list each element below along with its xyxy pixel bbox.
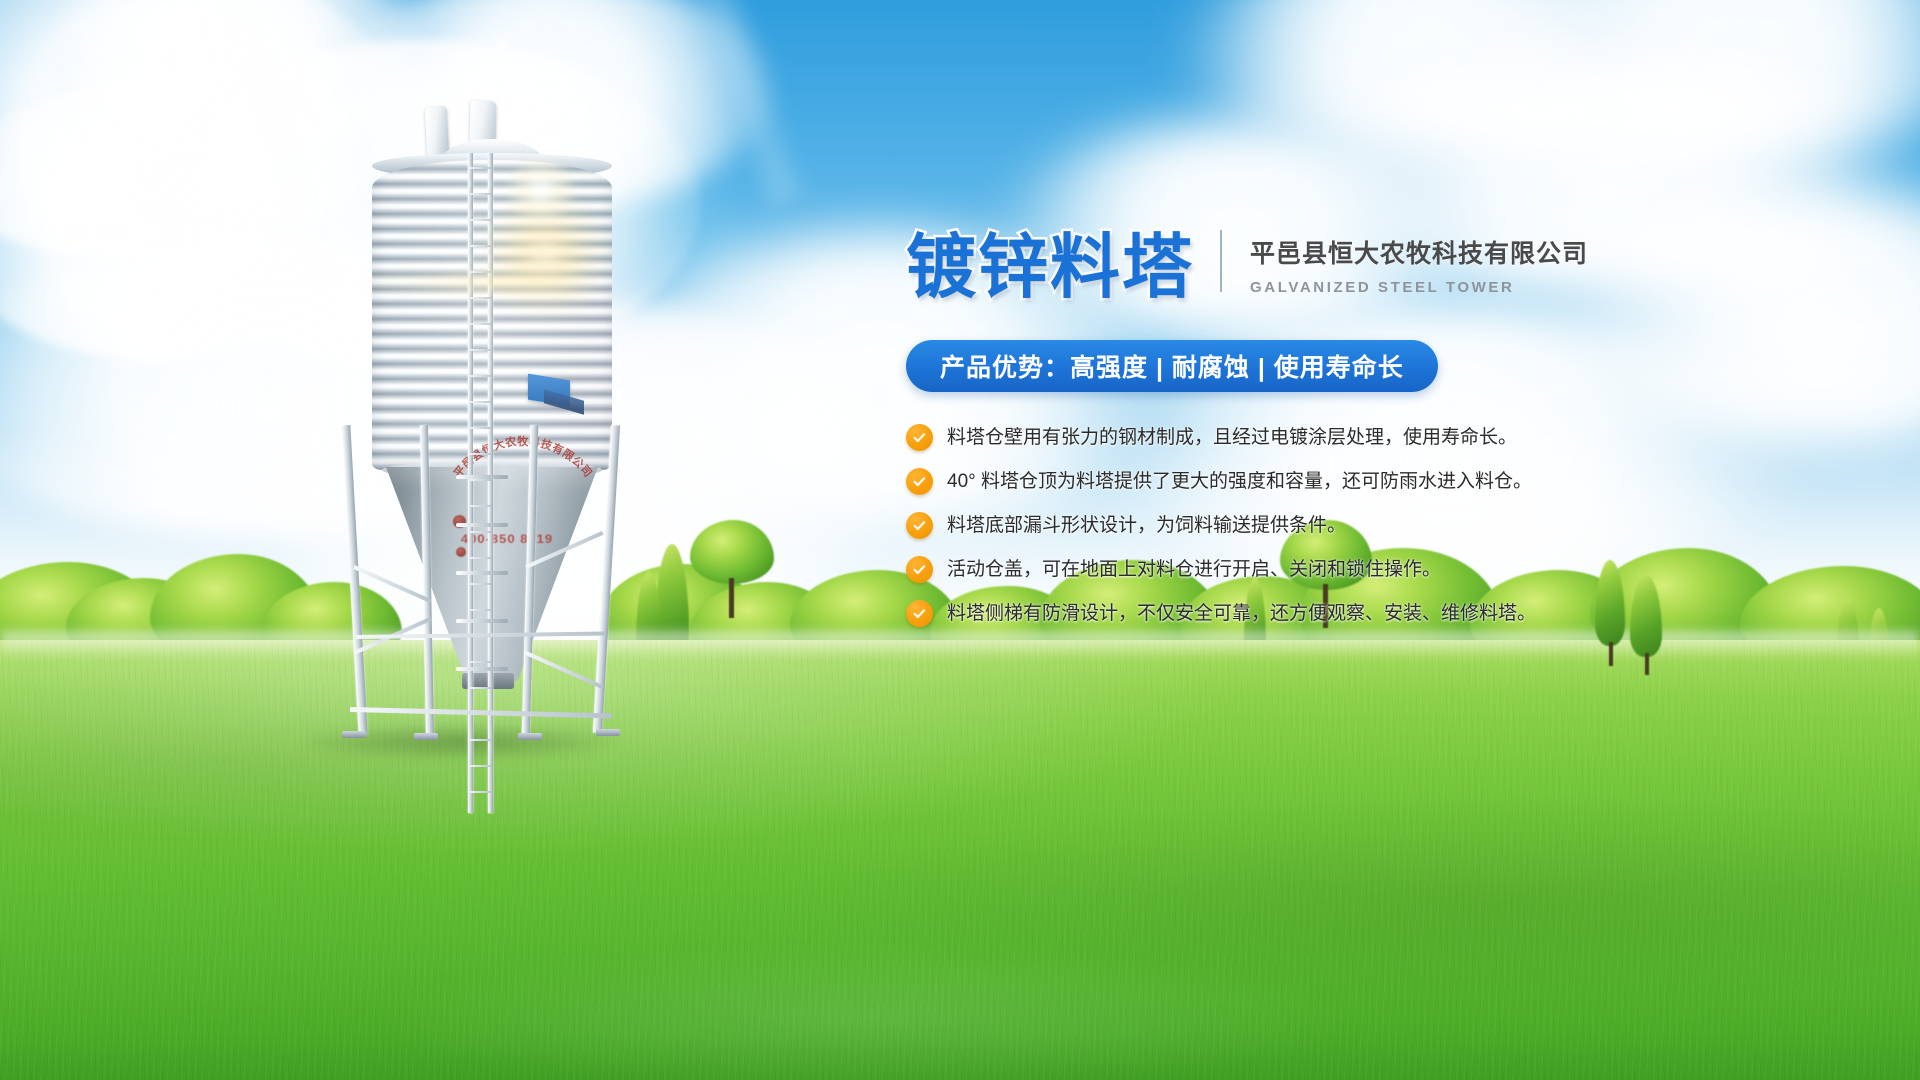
list-item: 活动仓盖，可在地面上对料仓进行开启、关闭和锁住操作。 [906, 556, 1606, 583]
list-item: 料塔仓壁用有张力的钢材制成，且经过电镀涂层处理，使用寿命长。 [906, 424, 1606, 451]
ladder-rung [470, 219, 492, 221]
ladder-rung [470, 167, 492, 169]
silo-foot-plate [518, 733, 542, 740]
conifer-tree [1630, 575, 1662, 657]
silo-roof-hatch [425, 106, 449, 157]
silo-cross-brace [353, 565, 431, 603]
list-item-label: 活动仓盖，可在地面上对料仓进行开启、关闭和锁住操作。 [947, 558, 1441, 582]
check-icon [906, 600, 933, 627]
feature-list: 料塔仓壁用有张力的钢材制成，且经过电镀涂层处理，使用寿命长。 40° 料塔仓顶为… [906, 424, 1606, 627]
product-banner: 平邑县恒大农牧科技有限公司 400-850 8819 [0, 0, 1920, 1080]
silo-cross-brace [525, 651, 603, 689]
silo-foot-plate [596, 729, 620, 736]
list-item-label: 40° 料塔仓顶为料塔提供了更大的强度和容量，还可防雨水进入料仓。 [947, 470, 1532, 494]
banner-content: 镀锌料塔 平邑县恒大农牧科技有限公司 GALVANIZED STEEL TOWE… [906, 230, 1606, 644]
check-icon [906, 556, 933, 583]
list-item: 40° 料塔仓顶为料塔提供了更大的强度和容量，还可防雨水进入料仓。 [906, 468, 1606, 495]
list-item: 料塔底部漏斗形状设计，为饲料输送提供条件。 [906, 512, 1606, 539]
ladder-rung [470, 245, 492, 247]
ladder-rung [470, 323, 492, 325]
company-block: 平邑县恒大农牧科技有限公司 GALVANIZED STEEL TOWER [1250, 234, 1588, 302]
ladder-rung [470, 765, 492, 767]
check-icon [906, 512, 933, 539]
cage-hoop [456, 523, 508, 527]
foreground-tree-group [1630, 575, 1690, 685]
ladder-safety-cage [456, 475, 508, 695]
galvanized-steel-silo: 平邑县恒大农牧科技有限公司 400-850 8819 [330, 95, 650, 755]
advantage-badge-label: 产品优势：高强度 | 耐腐蚀 | 使用寿命长 [940, 348, 1404, 384]
tree-trunk [1645, 653, 1649, 675]
ladder-rung [470, 401, 492, 403]
list-item: 料塔侧梯有防滑设计，不仅安全可靠，还方便观察、安装、维修料塔。 [906, 600, 1606, 627]
tree-canopy [690, 520, 774, 584]
ladder-rung [470, 453, 492, 455]
cage-hoop [456, 571, 508, 575]
ladder-rung [470, 427, 492, 429]
tree-trunk [729, 578, 734, 618]
list-item-label: 料塔侧梯有防滑设计，不仅安全可靠，还方便观察、安装、维修料塔。 [947, 602, 1536, 626]
silo-support-leg [341, 425, 367, 735]
title-divider [1220, 230, 1222, 292]
list-item-label: 料塔仓壁用有张力的钢材制成，且经过电镀涂层处理，使用寿命长。 [947, 426, 1517, 450]
foreground-tree-group [690, 520, 780, 630]
cage-hoop [456, 619, 508, 623]
title-row: 镀锌料塔 平邑县恒大农牧科技有限公司 GALVANIZED STEEL TOWE… [906, 230, 1606, 302]
silo-foot-plate [414, 733, 438, 740]
check-icon [906, 468, 933, 495]
company-name: 平邑县恒大农牧科技有限公司 [1250, 234, 1588, 270]
grass-shading [0, 640, 1920, 1080]
ladder-rung [470, 349, 492, 351]
list-item-label: 料塔底部漏斗形状设计，为饲料输送提供条件。 [947, 514, 1346, 538]
lens-flare-dot [495, 38, 507, 50]
check-icon [906, 424, 933, 451]
page-title: 镀锌料塔 [906, 232, 1194, 302]
silo-foot-plate [342, 731, 366, 738]
tree-trunk [1609, 642, 1613, 666]
ladder-rung [470, 193, 492, 195]
cage-hoop [456, 667, 508, 671]
advantage-badge: 产品优势：高强度 | 耐腐蚀 | 使用寿命长 [906, 340, 1438, 392]
ladder-rung [470, 297, 492, 299]
cage-hoop [456, 475, 508, 479]
ladder-rung [470, 791, 492, 793]
company-subtitle: GALVANIZED STEEL TOWER [1250, 279, 1588, 296]
ladder-rung [470, 739, 492, 741]
ladder-rung [470, 271, 492, 273]
ladder-rung [470, 375, 492, 377]
lens-flare-ring [1490, 10, 1590, 110]
